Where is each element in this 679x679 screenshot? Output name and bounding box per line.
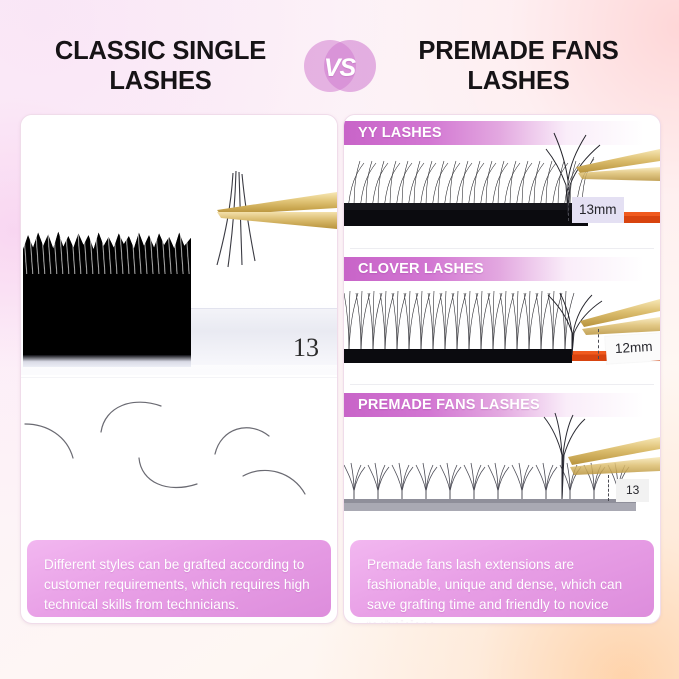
premade-fans-row: PREMADE FANS LASHES xyxy=(344,387,660,535)
yy-lashes-row: YY LASHES xyxy=(344,115,660,247)
measure-guide xyxy=(608,475,609,501)
clover-size-label: 12mm xyxy=(605,333,661,363)
comparison-infographic: CLASSIC SINGLE LASHES VS PREMADE FANS LA… xyxy=(0,0,679,679)
premade-caption: Premade fans lash extensions are fashion… xyxy=(350,540,654,617)
classic-single-lashes-card: 13 xyxy=(20,114,338,624)
yy-size-label: 13mm xyxy=(572,197,624,223)
fan-and-tweezers-icon xyxy=(344,115,660,247)
single-lashes-photo xyxy=(21,377,337,533)
page-title-right: PREMADE FANS LASHES xyxy=(377,36,653,96)
vs-label: VS xyxy=(324,54,355,83)
fan-and-tweezers-icon xyxy=(344,387,660,535)
clover-lashes-row: CLOVER LASHES xyxy=(344,251,660,383)
single-lash-icon xyxy=(21,378,337,533)
premade-size-label: 13 xyxy=(616,479,649,502)
premade-fans-lashes-card: YY LASHES xyxy=(343,114,661,624)
classic-caption: Different styles can be grafted accordin… xyxy=(27,540,331,617)
measure-guide xyxy=(568,187,569,221)
row-divider xyxy=(350,384,654,385)
vs-badge: VS xyxy=(303,36,377,96)
row-divider xyxy=(350,248,654,249)
measure-guide xyxy=(598,329,599,359)
page-title-left: CLASSIC SINGLE LASHES xyxy=(27,36,303,96)
classic-lash-photo: 13 xyxy=(21,115,337,375)
header: CLASSIC SINGLE LASHES VS PREMADE FANS LA… xyxy=(0,28,679,104)
tweezers-icon xyxy=(21,115,337,375)
